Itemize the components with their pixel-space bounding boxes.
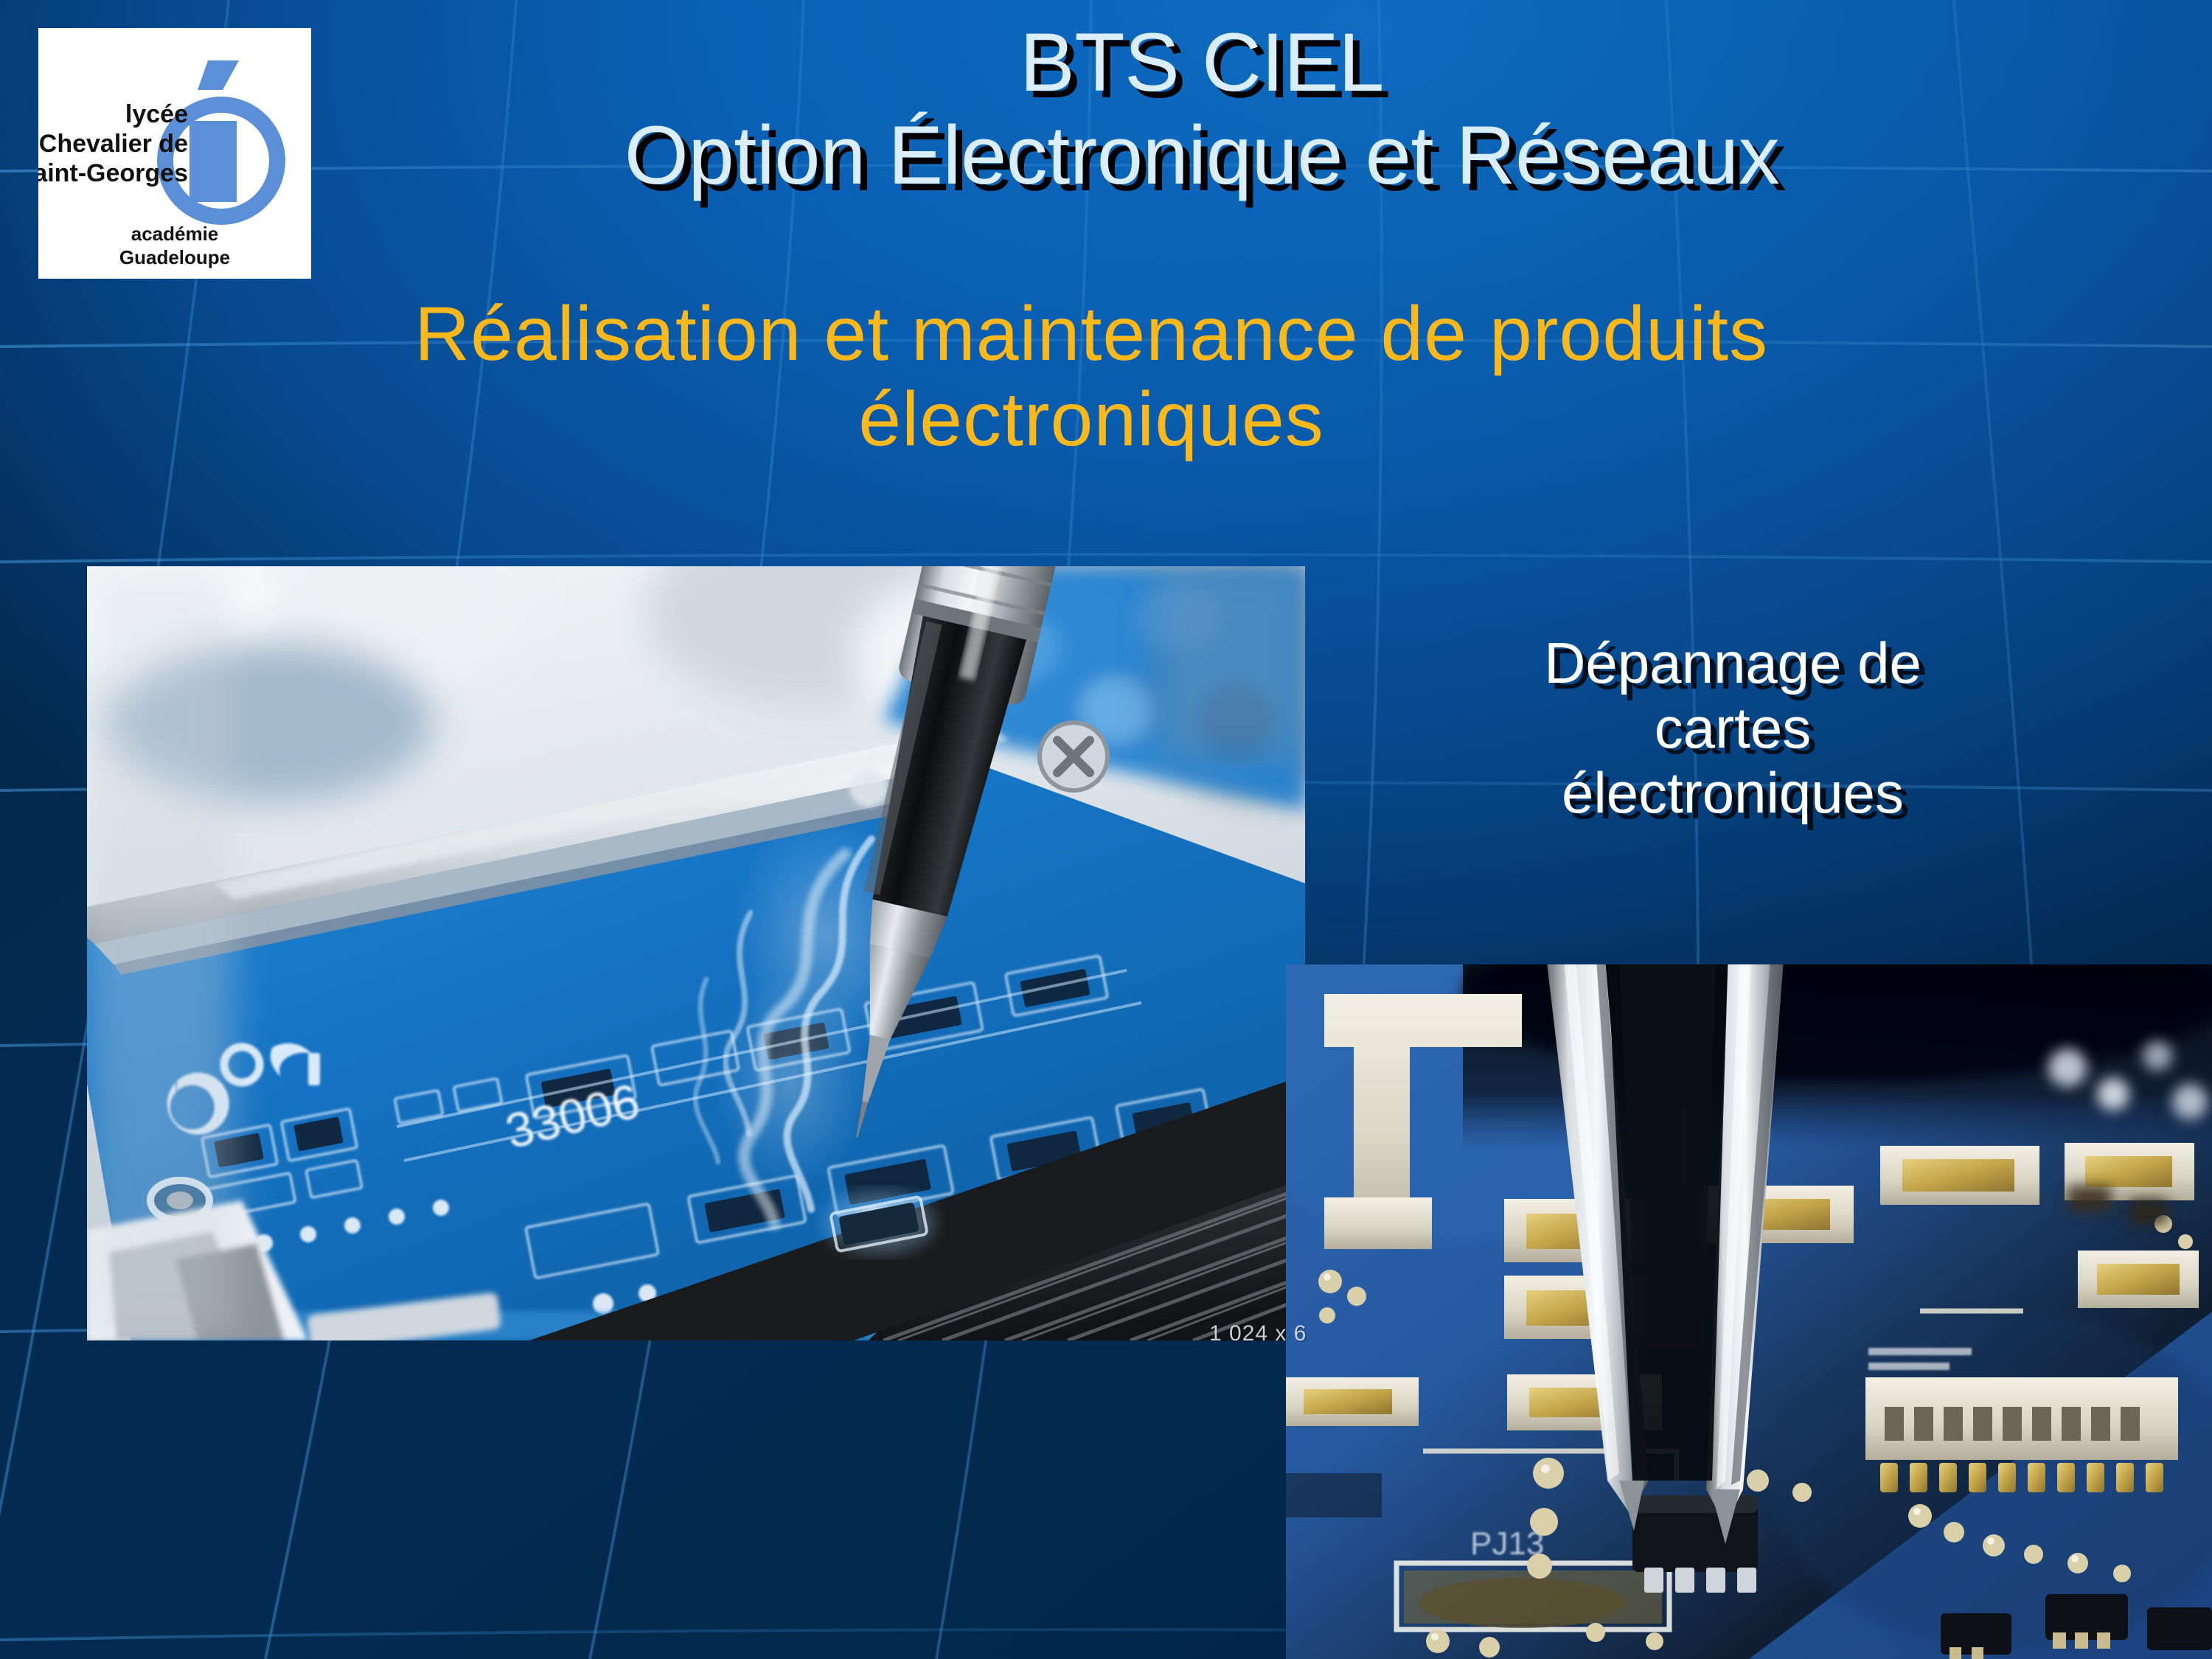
logo-line-4: académie bbox=[131, 223, 219, 245]
title-line-1: BTS CIEL bbox=[317, 21, 2087, 105]
soldering-photo-art: 33006 bbox=[87, 566, 1305, 1340]
title-line-2: Option Électronique et Réseaux bbox=[317, 114, 2087, 198]
callout-line-3: électroniques bbox=[1438, 760, 2028, 825]
slide-subtitle: Réalisation et maintenance de produits é… bbox=[96, 291, 2087, 463]
logo-graphic: lycée Chevalier de Saint-Georges académi… bbox=[38, 28, 311, 279]
subtitle-line-1: Réalisation et maintenance de produits bbox=[96, 291, 2087, 377]
logo-line-1: lycée bbox=[125, 100, 188, 128]
slide-title: BTS CIEL Option Électronique et Réseaux bbox=[317, 21, 2087, 198]
image-dimensions-watermark: 1 024 x 6 bbox=[1209, 1321, 1307, 1346]
photo-soldering-iron-on-pcb: 33006 bbox=[87, 566, 1305, 1340]
school-logo: lycée Chevalier de Saint-Georges académi… bbox=[38, 28, 311, 279]
subtitle-line-2: électroniques bbox=[96, 377, 2087, 462]
callout-line-2: cartes bbox=[1438, 695, 2028, 760]
photo-tweezers-on-pcb: PJ13 bbox=[1286, 964, 2212, 1659]
tweezers-photo-art: PJ13 bbox=[1286, 964, 2212, 1659]
logo-line-5: Guadeloupe bbox=[119, 246, 230, 268]
logo-line-2: Chevalier de bbox=[39, 130, 188, 158]
callout-text-block: Dépannage de cartes électroniques bbox=[1438, 630, 2028, 825]
slide-canvas: lycée Chevalier de Saint-Georges académi… bbox=[0, 0, 2212, 1659]
callout-line-1: Dépannage de bbox=[1438, 630, 2028, 695]
logo-line-3: Saint-Georges bbox=[38, 159, 188, 187]
